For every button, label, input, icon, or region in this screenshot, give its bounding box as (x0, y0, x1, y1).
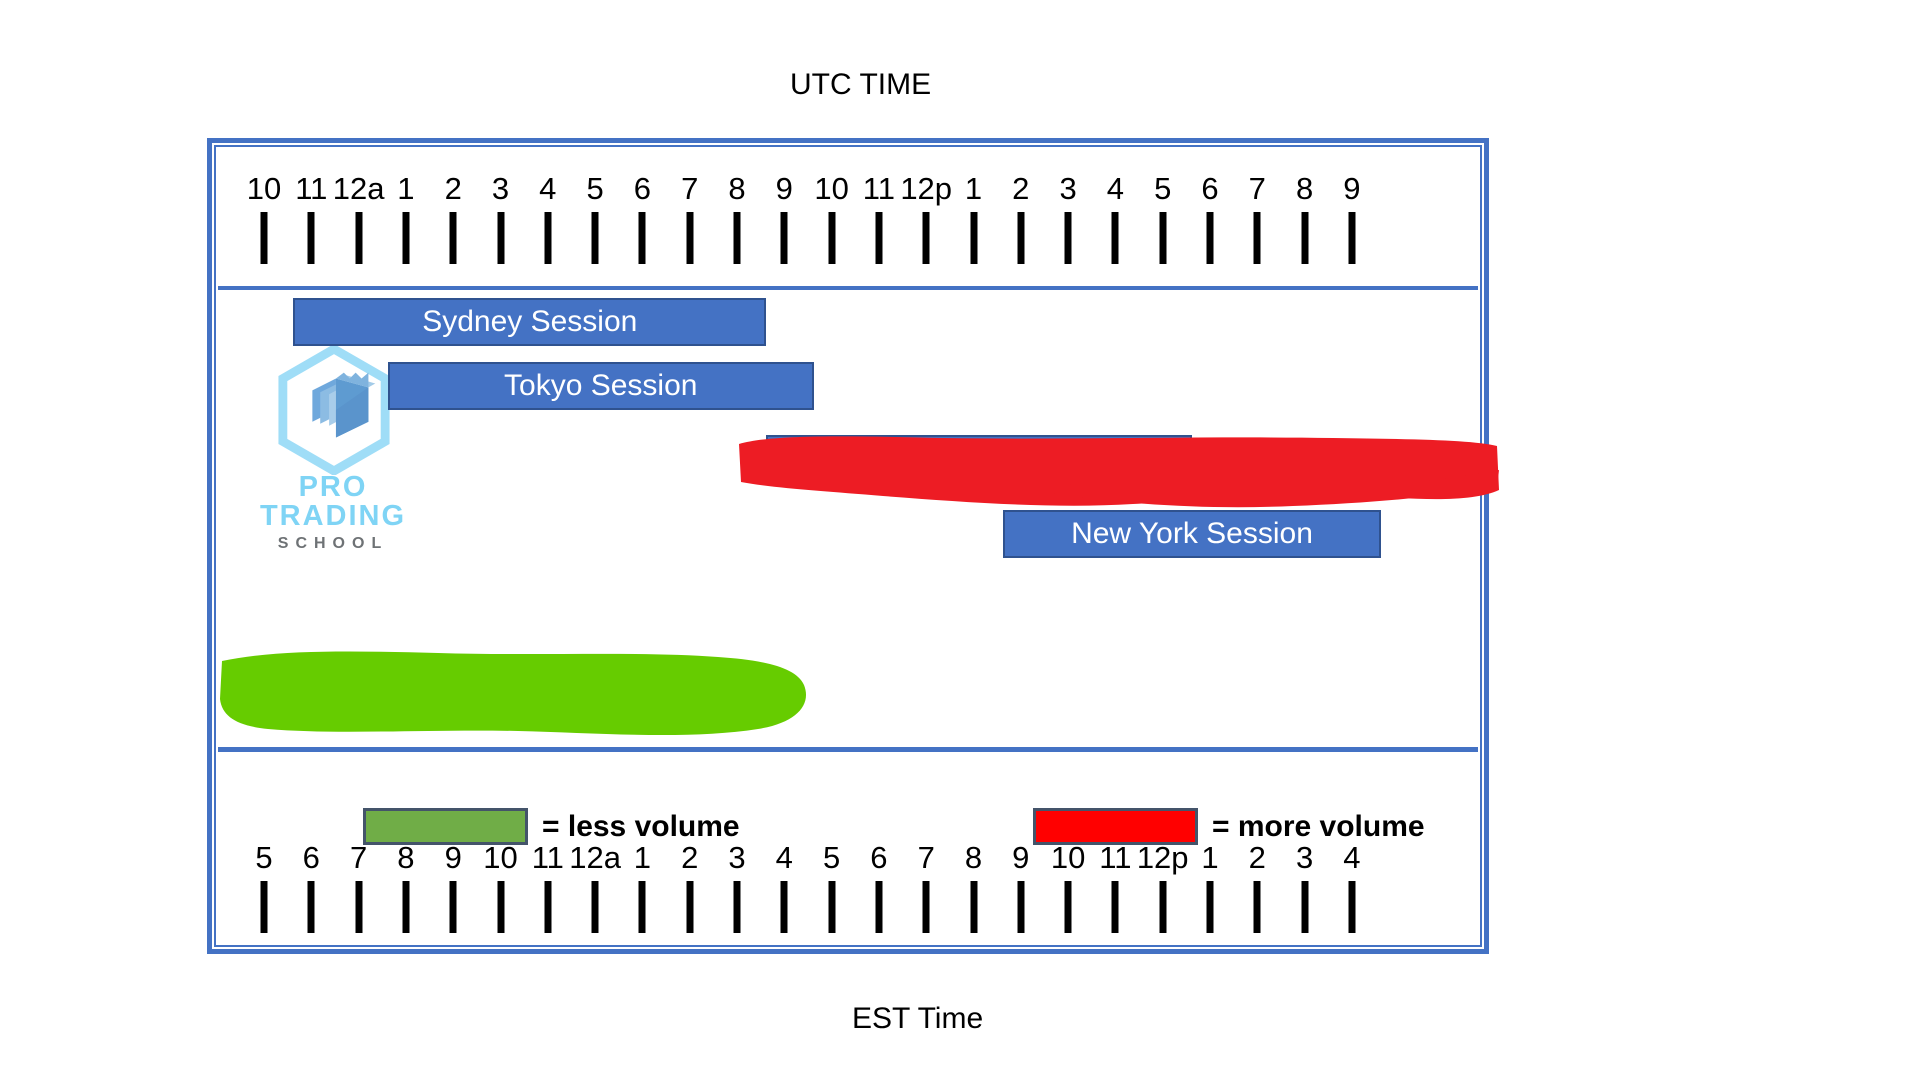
est-tick (639, 881, 646, 933)
sessions-chart-frame: 101112a123456789101112p123456789 PRO TRA… (207, 138, 1489, 954)
session-bar-tokyo-session[interactable]: Tokyo Session (388, 362, 814, 410)
utc-tick-label: 2 (1012, 173, 1029, 204)
utc-tick (1017, 212, 1024, 264)
utc-tick-label: 3 (492, 173, 509, 204)
utc-tick-label: 6 (634, 173, 651, 204)
est-tick-label: 8 (397, 842, 414, 873)
est-tick-label: 12p (1137, 842, 1189, 873)
utc-tick-label: 12p (900, 173, 952, 204)
utc-tick-label: 6 (1201, 173, 1218, 204)
utc-tick (1065, 212, 1072, 264)
est-tick-label: 9 (1012, 842, 1029, 873)
utc-tick-label: 3 (1059, 173, 1076, 204)
utc-tick-label: 8 (728, 173, 745, 204)
utc-tick-label: 1 (397, 173, 414, 204)
utc-tick-label: 10 (814, 173, 848, 204)
est-tick (828, 881, 835, 933)
est-tick-label: 5 (255, 842, 272, 873)
est-tick (875, 881, 882, 933)
utc-tick (544, 212, 551, 264)
utc-tick (1254, 212, 1261, 264)
est-tick-label: 10 (483, 842, 517, 873)
session-bar-london-session[interactable]: London Session (766, 435, 1192, 483)
utc-tick (639, 212, 646, 264)
est-time-axis: 56789101112a123456789101112p1234 (212, 818, 1484, 943)
est-tick (970, 881, 977, 933)
utc-tick (734, 212, 741, 264)
est-tick (923, 881, 930, 933)
logo-subtitle: SCHOOL (233, 536, 433, 552)
est-tick-label: 4 (1343, 842, 1360, 873)
est-tick (497, 881, 504, 933)
est-tick (308, 881, 315, 933)
utc-tick-label: 2 (445, 173, 462, 204)
est-tick-label: 1 (1201, 842, 1218, 873)
utc-tick (355, 212, 362, 264)
hexagon-book-icon (275, 345, 393, 475)
est-tick (1207, 881, 1214, 933)
utc-tick-label: 7 (681, 173, 698, 204)
est-tick-label: 11 (1099, 842, 1131, 873)
utc-tick (1112, 212, 1119, 264)
est-tick-label: 12a (569, 842, 621, 873)
utc-tick (592, 212, 599, 264)
est-tick (1065, 881, 1072, 933)
utc-tick (450, 212, 457, 264)
est-tick-label: 5 (823, 842, 840, 873)
logo-title: PRO TRADING (233, 473, 433, 531)
utc-tick (1207, 212, 1214, 264)
est-tick (686, 881, 693, 933)
utc-tick (308, 212, 315, 264)
est-tick-label: 3 (1296, 842, 1313, 873)
est-tick (781, 881, 788, 933)
utc-tick (970, 212, 977, 264)
est-tick-label: 1 (634, 842, 651, 873)
est-tick (1159, 881, 1166, 933)
utc-tick (1301, 212, 1308, 264)
green-highlight-annotation (218, 645, 818, 745)
utc-tick-label: 5 (586, 173, 603, 204)
est-tick-label: 6 (303, 842, 320, 873)
utc-tick (402, 212, 409, 264)
est-tick-label: 2 (1249, 842, 1266, 873)
session-bar-new-york-session[interactable]: New York Session (1003, 510, 1381, 558)
utc-tick (497, 212, 504, 264)
utc-tick (781, 212, 788, 264)
utc-tick-label: 9 (1343, 173, 1360, 204)
est-tick-label: 6 (870, 842, 887, 873)
est-time-caption: EST Time (852, 1002, 983, 1036)
session-bars-band: PRO TRADING SCHOOL Sydney SessionTokyo S… (218, 290, 1478, 748)
utc-time-axis: 101112a123456789101112p123456789 (212, 149, 1484, 274)
session-bar-sydney-session[interactable]: Sydney Session (293, 298, 766, 346)
est-tick (592, 881, 599, 933)
est-tick (1301, 881, 1308, 933)
est-tick-label: 10 (1051, 842, 1085, 873)
utc-tick (923, 212, 930, 264)
logo-wordmark: PRO TRADING SCHOOL (233, 473, 433, 552)
est-tick-row: 56789101112a123456789101112p1234 (212, 818, 1484, 943)
utc-tick-label: 11 (295, 173, 327, 204)
utc-tick (261, 212, 268, 264)
utc-tick (875, 212, 882, 264)
est-tick (734, 881, 741, 933)
est-tick (1017, 881, 1024, 933)
est-tick (1254, 881, 1261, 933)
utc-time-caption: UTC TIME (790, 68, 931, 102)
est-tick (355, 881, 362, 933)
utc-tick-label: 7 (1249, 173, 1266, 204)
utc-tick-row: 101112a123456789101112p123456789 (212, 149, 1484, 274)
est-tick-label: 9 (445, 842, 462, 873)
est-tick-label: 11 (532, 842, 564, 873)
utc-tick (1348, 212, 1355, 264)
est-tick-label: 2 (681, 842, 698, 873)
utc-tick-label: 4 (539, 173, 556, 204)
utc-tick (828, 212, 835, 264)
utc-tick-label: 4 (1107, 173, 1124, 204)
est-tick (402, 881, 409, 933)
est-tick (261, 881, 268, 933)
utc-tick-label: 8 (1296, 173, 1313, 204)
est-tick (544, 881, 551, 933)
est-tick-label: 8 (965, 842, 982, 873)
utc-tick-label: 10 (247, 173, 281, 204)
utc-tick (686, 212, 693, 264)
est-tick (450, 881, 457, 933)
utc-tick-label: 9 (776, 173, 793, 204)
utc-tick-label: 11 (863, 173, 895, 204)
utc-tick-label: 1 (965, 173, 982, 204)
est-tick-label: 7 (918, 842, 935, 873)
est-tick-label: 4 (776, 842, 793, 873)
utc-tick-label: 12a (333, 173, 385, 204)
utc-tick (1159, 212, 1166, 264)
est-tick (1348, 881, 1355, 933)
est-tick-label: 3 (728, 842, 745, 873)
utc-tick-label: 5 (1154, 173, 1171, 204)
est-tick-label: 7 (350, 842, 367, 873)
est-tick (1112, 881, 1119, 933)
